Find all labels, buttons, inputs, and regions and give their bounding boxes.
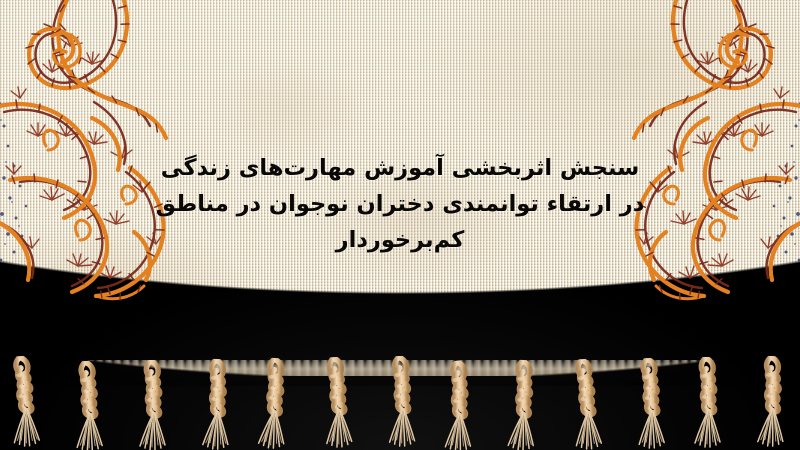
title-line-1: سنجش اثربخشی آموزش مهارت‌های زندگی [0, 150, 800, 186]
cloth-hem [0, 360, 800, 376]
slide-title: سنجش اثربخشی آموزش مهارت‌های زندگی در ار… [0, 150, 800, 258]
title-slide: سنجش اثربخشی آموزش مهارت‌های زندگی در ار… [0, 0, 800, 450]
title-line-3: کم‌برخوردار [0, 222, 800, 258]
title-line-2: در ارتقاء توانمندی دختران نوجوان در مناط… [0, 186, 800, 222]
